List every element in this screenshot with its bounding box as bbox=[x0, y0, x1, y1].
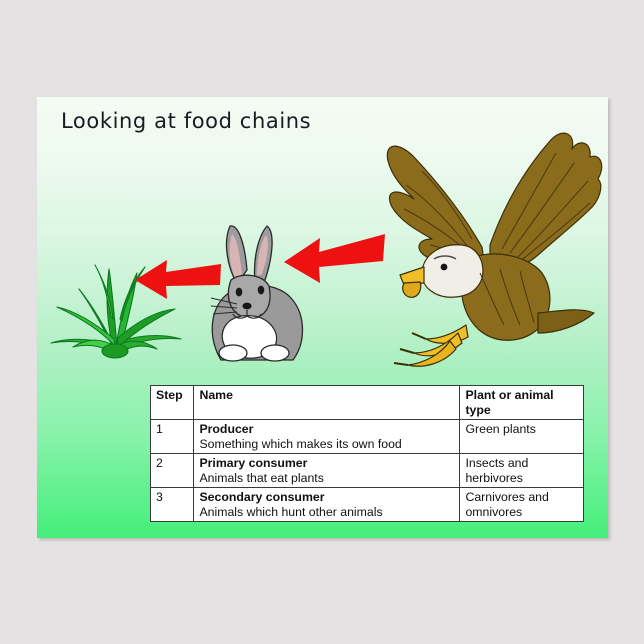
row-3-title: Secondary consumer bbox=[199, 490, 455, 505]
row-3-type-line-1: Carnivores and bbox=[465, 490, 579, 505]
header-type: Plant or animal type bbox=[460, 386, 584, 420]
row-1-name: Producer Something which makes its own f… bbox=[194, 420, 460, 454]
row-2-type-line-2: herbivores bbox=[465, 471, 579, 486]
table-header-row: Step Name Plant or animal type bbox=[151, 386, 584, 420]
table-row: 1 Producer Something which makes its own… bbox=[151, 420, 584, 454]
row-3-type-line-2: omnivores bbox=[465, 505, 579, 520]
poster: Looking at food chains bbox=[37, 97, 608, 538]
row-2-description: Animals that eat plants bbox=[199, 471, 455, 486]
header-type-line-1: Plant or animal bbox=[465, 388, 579, 403]
row-2-step: 2 bbox=[151, 454, 194, 488]
food-chain-table: Step Name Plant or animal type 1 Produce… bbox=[150, 385, 584, 522]
row-1-step: 1 bbox=[151, 420, 194, 454]
row-2-title: Primary consumer bbox=[199, 456, 455, 471]
row-2-type-line-1: Insects and bbox=[465, 456, 579, 471]
header-type-line-2: type bbox=[465, 403, 579, 418]
row-3-description: Animals which hunt other animals bbox=[199, 505, 455, 520]
bald-eagle-illustration bbox=[362, 127, 607, 372]
row-1-type: Green plants bbox=[460, 420, 584, 454]
page-title: Looking at food chains bbox=[61, 109, 311, 133]
table-row: 2 Primary consumer Animals that eat plan… bbox=[151, 454, 584, 488]
row-1-type-line-1: Green plants bbox=[465, 422, 579, 437]
row-2-name: Primary consumer Animals that eat plants bbox=[194, 454, 460, 488]
row-1-title: Producer bbox=[199, 422, 455, 437]
row-2-type: Insects and herbivores bbox=[460, 454, 584, 488]
header-step: Step bbox=[151, 386, 194, 420]
header-name: Name bbox=[194, 386, 460, 420]
poster-background: Looking at food chains bbox=[37, 97, 608, 538]
table-row: 3 Secondary consumer Animals which hunt … bbox=[151, 488, 584, 522]
row-3-step: 3 bbox=[151, 488, 194, 522]
row-3-name: Secondary consumer Animals which hunt ot… bbox=[194, 488, 460, 522]
row-1-description: Something which makes its own food bbox=[199, 437, 455, 452]
row-3-type: Carnivores and omnivores bbox=[460, 488, 584, 522]
